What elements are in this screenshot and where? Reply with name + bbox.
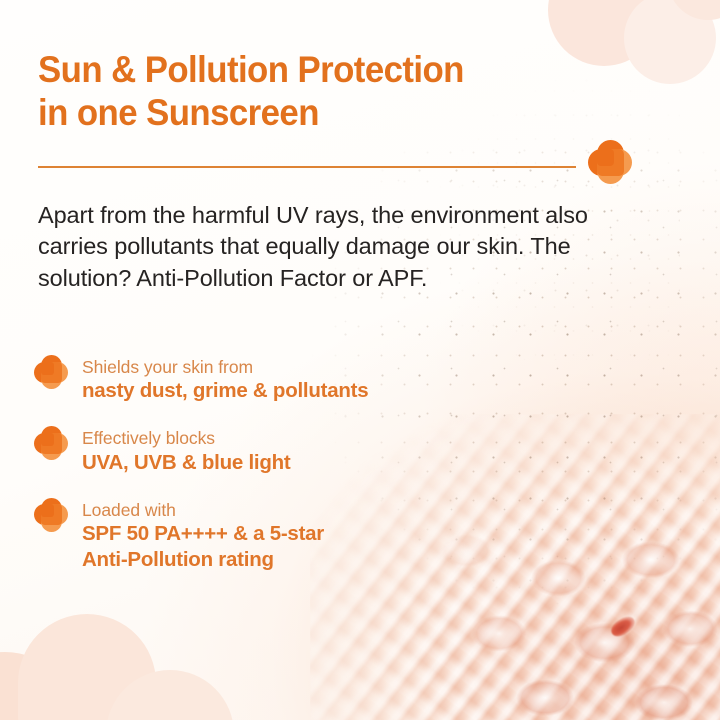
title-divider [38, 166, 576, 168]
benefit-main: nasty dust, grime & pollutants [82, 378, 368, 404]
benefit-main: SPF 50 PA++++ & a 5-star Anti-Pollution … [82, 521, 324, 573]
list-item: Effectively blocks UVA, UVB & blue light [34, 426, 594, 475]
clover-accent-icon [588, 140, 632, 184]
clover-bullet-icon [34, 355, 68, 389]
pink-cloud-blob-bottom-left [0, 592, 210, 720]
benefit-text: Loaded with SPF 50 PA++++ & a 5-star Ant… [82, 498, 324, 573]
page-title-line-1: Sun & Pollution Protection [38, 49, 464, 90]
benefit-text: Shields your skin from nasty dust, grime… [82, 355, 368, 404]
page-title: Sun & Pollution Protection in one Sunscr… [38, 48, 583, 135]
benefit-lead: Shields your skin from [82, 356, 368, 378]
clover-bullet-icon [34, 498, 68, 532]
clover-bullet-icon [34, 426, 68, 460]
benefit-text: Effectively blocks UVA, UVB & blue light [82, 426, 290, 475]
infographic-canvas: Sun & Pollution Protection in one Sunscr… [0, 0, 720, 720]
intro-paragraph: Apart from the harmful UV rays, the envi… [38, 200, 590, 294]
benefit-main: UVA, UVB & blue light [82, 450, 290, 476]
benefit-lead: Loaded with [82, 499, 324, 521]
skin-capillary-highlight [608, 613, 638, 640]
benefit-list: Shields your skin from nasty dust, grime… [34, 355, 594, 573]
list-item: Shields your skin from nasty dust, grime… [34, 355, 594, 404]
benefit-lead: Effectively blocks [82, 427, 290, 449]
list-item: Loaded with SPF 50 PA++++ & a 5-star Ant… [34, 498, 594, 573]
page-title-line-2: in one Sunscreen [38, 92, 319, 133]
